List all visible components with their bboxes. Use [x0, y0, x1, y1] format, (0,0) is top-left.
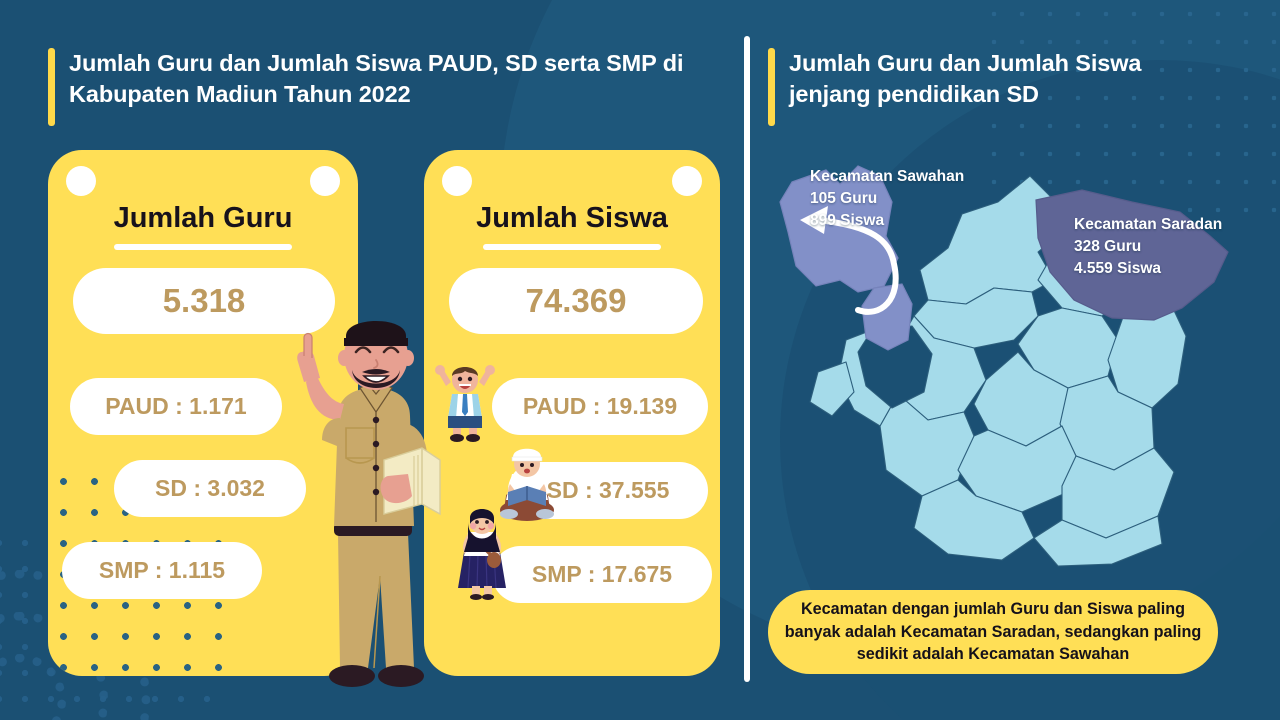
section-divider: [744, 36, 750, 682]
guru-sd-value: SD : 3.032: [114, 460, 306, 517]
map-label-sawahan: Kecamatan Sawahan 105 Guru 899 Siswa: [810, 166, 964, 232]
title-accent-bar: [48, 48, 55, 126]
punch-hole-right-icon: [672, 166, 702, 196]
saradan-district-name: Kecamatan Saradan: [1074, 214, 1222, 236]
sawahan-district-name: Kecamatan Sawahan: [810, 166, 964, 188]
left-title-text: Jumlah Guru dan Jumlah Siswa PAUD, SD se…: [69, 48, 708, 126]
sawahan-siswa-count: 899 Siswa: [810, 210, 964, 232]
guru-paud-value: PAUD : 1.171: [70, 378, 282, 435]
map-label-saradan: Kecamatan Saradan 328 Guru 4.559 Siswa: [1074, 214, 1222, 280]
right-section-title: Jumlah Guru dan Jumlah Siswa jenjang pen…: [768, 48, 1218, 126]
siswa-total-value: 74.369: [449, 268, 703, 334]
card-siswa-heading: Jumlah Siswa: [424, 202, 720, 235]
map-kabupaten-madiun: Kecamatan Sawahan 105 Guru 899 Siswa Kec…: [762, 140, 1262, 580]
infographic-canvas: Jumlah Guru dan Jumlah Siswa PAUD, SD se…: [0, 0, 1280, 720]
punch-hole-left-icon: [66, 166, 96, 196]
siswa-smp-value: SMP : 17.675: [492, 546, 712, 603]
card-guru-heading: Jumlah Guru: [48, 202, 358, 235]
map-caption-box: Kecamatan dengan jumlah Guru dan Siswa p…: [768, 590, 1218, 674]
guru-smp-value: SMP : 1.115: [62, 542, 262, 599]
left-section-title: Jumlah Guru dan Jumlah Siswa PAUD, SD se…: [48, 48, 708, 126]
punch-hole-right-icon: [310, 166, 340, 196]
right-title-text: Jumlah Guru dan Jumlah Siswa jenjang pen…: [789, 48, 1218, 126]
punch-hole-left-icon: [442, 166, 472, 196]
title-accent-bar: [768, 48, 775, 126]
district-sawahan-onmap: [862, 284, 912, 350]
sawahan-guru-count: 105 Guru: [810, 188, 964, 210]
saradan-guru-count: 328 Guru: [1074, 236, 1222, 258]
siswa-paud-value: PAUD : 19.139: [492, 378, 708, 435]
heading-underline: [483, 244, 661, 250]
teacher-illustration: [280, 308, 470, 720]
saradan-siswa-count: 4.559 Siswa: [1074, 258, 1222, 280]
heading-underline: [114, 244, 292, 250]
